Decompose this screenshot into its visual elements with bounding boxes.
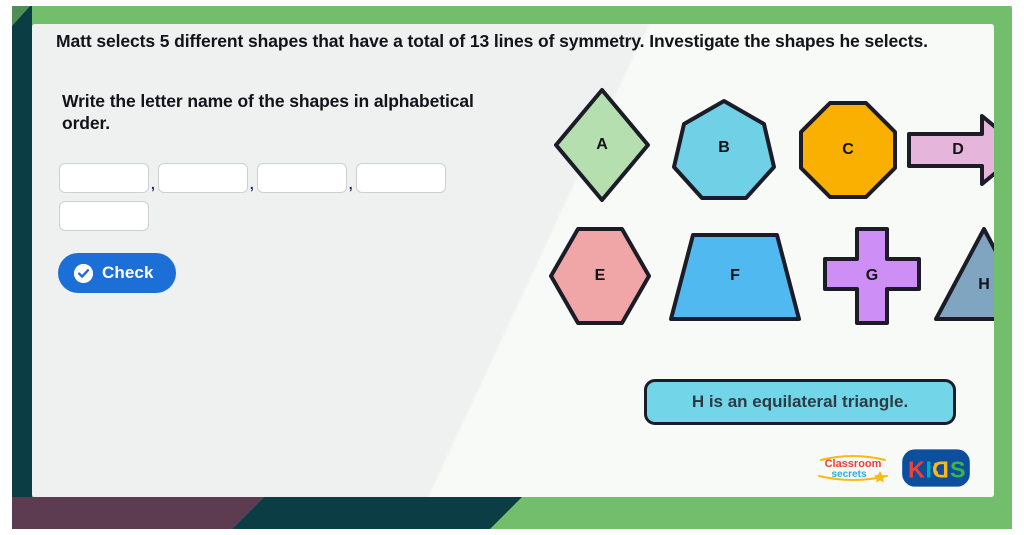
- classroom-secrets-logo: Classroom secrets: [814, 453, 892, 483]
- answer-separator-2: ,: [248, 177, 257, 193]
- frame-teal-left-border: [12, 6, 32, 524]
- kids-logo: K I D S: [900, 447, 972, 489]
- hint-callout: H is an equilateral triangle.: [644, 379, 956, 425]
- question-instruction: Write the letter name of the shapes in a…: [62, 90, 492, 135]
- answer-separator-3: ,: [347, 177, 356, 193]
- frame-bottom-border: [12, 497, 1012, 529]
- shape-f-trapezium: F: [668, 232, 802, 322]
- card-content: Matt selects 5 different shapes that hav…: [32, 24, 994, 497]
- svg-text:secrets: secrets: [831, 469, 866, 480]
- shape-d-arrow: D: [906, 113, 994, 187]
- shape-panel: A B C: [540, 86, 990, 346]
- svg-text:I: I: [926, 456, 932, 482]
- activity-frame: Matt selects 5 different shapes that hav…: [0, 0, 1024, 535]
- answer-input-group: , , ,: [59, 163, 489, 231]
- answer-input-4[interactable]: [356, 163, 446, 193]
- shape-c-octagon: C: [798, 100, 898, 200]
- shape-a-rhombus: A: [550, 86, 654, 204]
- shape-e-hexagon: E: [548, 226, 652, 326]
- answer-row-2: [59, 201, 489, 231]
- question-stem: Matt selects 5 different shapes that hav…: [56, 30, 988, 52]
- svg-text:D: D: [932, 456, 949, 482]
- svg-text:S: S: [950, 456, 966, 482]
- answer-input-2[interactable]: [158, 163, 248, 193]
- answer-input-3[interactable]: [257, 163, 347, 193]
- frame-bottom-mauve-slice: [12, 497, 264, 529]
- answer-input-5[interactable]: [59, 201, 149, 231]
- shape-g-cross: G: [822, 226, 922, 326]
- answer-separator-1: ,: [149, 177, 158, 193]
- answer-input-1[interactable]: [59, 163, 149, 193]
- shape-h-triangle: H: [932, 226, 994, 322]
- logo-bar: Classroom secrets K I D S: [814, 447, 972, 489]
- shape-b-heptagon: B: [670, 98, 778, 202]
- hint-callout-text: H is an equilateral triangle.: [692, 392, 908, 412]
- answer-row-1: , , ,: [59, 163, 489, 193]
- check-circle-icon: [74, 264, 93, 283]
- svg-text:K: K: [908, 456, 925, 482]
- check-button-label: Check: [102, 263, 154, 283]
- activity-card: Matt selects 5 different shapes that hav…: [32, 24, 994, 497]
- svg-text:Classroom: Classroom: [825, 458, 882, 470]
- check-button[interactable]: Check: [58, 253, 176, 293]
